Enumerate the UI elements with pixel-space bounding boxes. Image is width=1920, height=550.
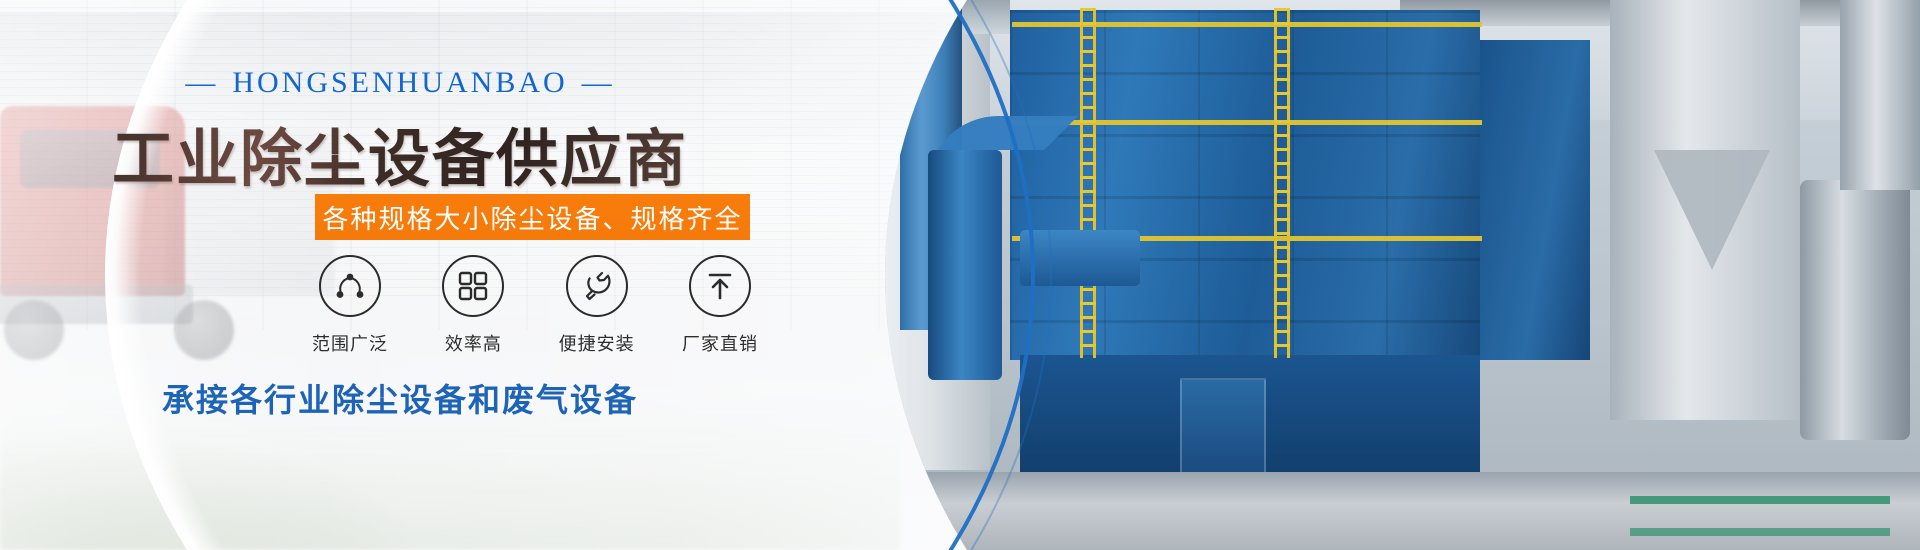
dash-right: — — [582, 66, 615, 100]
feature-item-factory-direct[interactable]: 厂家直销 — [670, 255, 770, 356]
grey-hopper-cone — [1654, 150, 1770, 270]
brand-eyebrow: —HONGSENHUANBAO— — [0, 66, 800, 100]
brand-eyebrow-text: HONGSENHUANBAO — [232, 66, 567, 99]
feature-list: 范围广泛 效率高 — [300, 255, 770, 356]
blue-baghouse-unit-2 — [1480, 40, 1590, 360]
highlight-banner-text: 各种规格大小除尘设备、规格齐全 — [322, 199, 742, 236]
yellow-ladder — [1080, 8, 1096, 358]
feature-label: 范围广泛 — [300, 330, 400, 356]
tagline: 承接各行业除尘设备和废气设备 — [0, 375, 800, 421]
feature-label: 便捷安装 — [547, 330, 647, 356]
page-title: 工业除尘设备供应商 — [0, 108, 800, 198]
feature-label: 效率高 — [423, 330, 523, 356]
share-network-icon — [319, 255, 381, 317]
access-door — [1180, 378, 1266, 475]
banner-content: —HONGSENHUANBAO— 工业除尘设备供应商 各种规格大小除尘设备、规格… — [0, 0, 1000, 550]
feature-item-range[interactable]: 范围广泛 — [300, 255, 400, 356]
yellow-ladder-2 — [1274, 8, 1290, 358]
wrench-icon — [566, 255, 628, 317]
feature-item-efficiency[interactable]: 效率高 — [423, 255, 523, 356]
silver-cylinder-2 — [1840, 0, 1920, 190]
blue-duct-horizontal — [1020, 230, 1140, 286]
hero-banner: —HONGSENHUANBAO— 工业除尘设备供应商 各种规格大小除尘设备、规格… — [0, 0, 1920, 550]
silver-cylinder — [1800, 180, 1910, 440]
highlight-banner: 各种规格大小除尘设备、规格齐全 — [315, 194, 750, 240]
feature-item-installation[interactable]: 便捷安装 — [547, 255, 647, 356]
arrow-up-bar-icon — [689, 255, 751, 317]
dash-left: — — [185, 66, 218, 100]
feature-label: 厂家直销 — [670, 330, 770, 356]
grid-squares-icon — [442, 255, 504, 317]
